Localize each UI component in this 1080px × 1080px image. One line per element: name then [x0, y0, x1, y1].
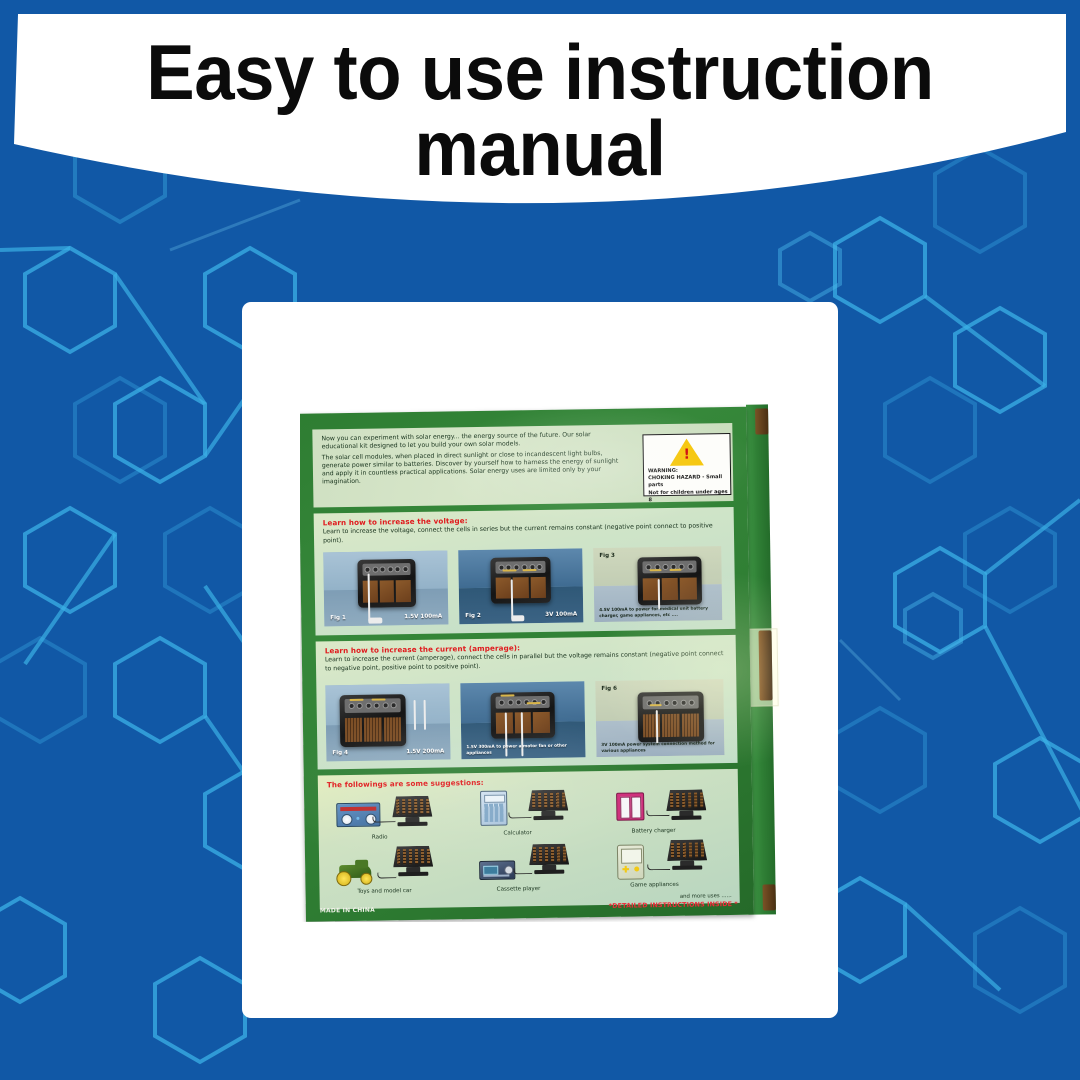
intro-text: Now you can experiment with solar energy… [321, 431, 628, 489]
carton-front: Now you can experiment with solar energy… [300, 407, 754, 922]
figure-2-value: 3V 100mA [545, 611, 577, 618]
intro-paragraph-1: Now you can experiment with solar energy… [321, 431, 627, 452]
warning-exclamation-icon: ! [683, 448, 690, 462]
warning-line-2: CHOKING HAZARD - Small parts [648, 474, 728, 490]
detailed-instructions-text: *DETAILED INSTRUCTIONS INSIDE * [609, 900, 738, 910]
figure-6: Fig 6 3V 100mA power system connection m… [595, 679, 724, 757]
calculator-icon [480, 791, 508, 826]
warning-line-3: Not for children under ages 8 [648, 489, 728, 505]
figure-5: 1.5V 300mA to power a motor fan or other… [460, 681, 585, 759]
figure-1-label: Fig 1 [330, 615, 346, 621]
suggestion-battery-charger-caption: Battery charger [599, 827, 709, 835]
product-box-photo: Now you can experiment with solar energy… [300, 404, 780, 922]
suggestions-heading: The followings are some suggestions: [327, 778, 484, 789]
warning-text: WARNING: CHOKING HAZARD - Small parts No… [648, 467, 729, 504]
cassette-player-icon [479, 860, 515, 880]
made-in-china-text: MADE IN CHINA [320, 907, 375, 915]
intro-paragraph-2: The solar cell modules, when placed in d… [322, 449, 628, 486]
suggestion-calculator-caption: Calculator [463, 830, 573, 838]
current-section: Learn how to increase the current (amper… [316, 635, 738, 770]
more-uses-text: and more uses ...... [680, 893, 732, 900]
page-title: Easy to use instruction manual [38, 34, 1042, 187]
solar-panel-icon [529, 844, 569, 875]
intro-panel: Now you can experiment with solar energy… [312, 423, 733, 508]
solar-module-fig3 [637, 556, 702, 605]
box-flap-middle [759, 630, 773, 700]
figure-3-label: Fig 3 [599, 553, 615, 559]
battery-charger-icon [616, 792, 644, 820]
figure-6-note: 3V 100mA power system connection method … [601, 740, 719, 753]
suggestion-radio: Radio [330, 793, 459, 845]
suggestion-radio-caption: Radio [325, 834, 435, 842]
solar-panel-icon [667, 839, 707, 870]
suggestions-grid: Radio [330, 785, 730, 899]
game-console-icon [617, 844, 645, 879]
toy-car-icon [333, 859, 379, 886]
solar-module-fig6 [637, 691, 704, 742]
suggestion-cassette: Cassette player [467, 843, 596, 895]
voltage-section: Learn how to increase the voltage: Learn… [314, 507, 736, 636]
suggestion-calculator: Calculator [466, 787, 595, 839]
suggestion-toys: Toys and model car [331, 845, 460, 897]
figure-3: Fig 3 4.5V 100mA to power for medical un… [593, 546, 722, 622]
figure-6-label: Fig 6 [601, 686, 617, 692]
warning-label: ! WARNING: CHOKING HAZARD - Small parts … [642, 433, 731, 496]
figure-5-note: 1.5V 300mA to power a motor fan or other… [466, 743, 576, 756]
figure-2-label: Fig 2 [465, 613, 481, 619]
suggestion-battery-charger: Battery charger [602, 787, 731, 839]
solar-module-fig4 [339, 694, 406, 747]
figure-4: Fig 4 1.5V 200mA [325, 683, 450, 761]
solar-module-fig2 [490, 557, 551, 604]
suggestion-game-caption: Game appliances [599, 881, 709, 889]
solar-panel-icon [393, 846, 433, 877]
solar-module-fig1 [357, 559, 416, 608]
photo-card: Now you can experiment with solar energy… [242, 302, 838, 1018]
solar-panel-icon [528, 790, 568, 821]
suggestions-section: The followings are some suggestions: [318, 769, 740, 910]
figure-3-note: 4.5V 100mA to power for medical unit bat… [599, 605, 717, 618]
figure-2: Fig 2 3V 100mA [458, 548, 583, 624]
header-banner: Easy to use instruction manual [0, 0, 1080, 260]
radio-icon [336, 803, 380, 828]
figure-4-value: 1.5V 200mA [406, 749, 444, 756]
solar-panel-icon [666, 789, 706, 820]
suggestion-game: Game appliances [603, 839, 732, 891]
slide-canvas: Easy to use instruction manual Now you c… [0, 0, 1080, 1080]
suggestion-toys-caption: Toys and model car [324, 888, 446, 896]
figure-4-label: Fig 4 [332, 750, 348, 756]
figure-1-value: 1.5V 100mA [404, 614, 442, 621]
solar-panel-icon [392, 796, 432, 827]
box-flap-top [755, 408, 768, 434]
suggestion-cassette-caption: Cassette player [464, 886, 574, 894]
figure-1: Fig 1 1.5V 100mA [323, 550, 448, 626]
box-flap-bottom [763, 884, 776, 910]
